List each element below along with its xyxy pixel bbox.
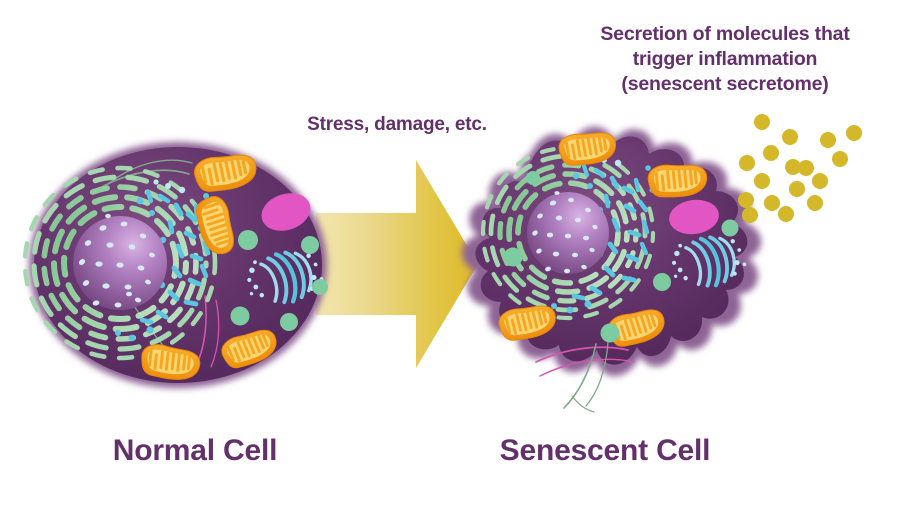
secretome-dot (807, 195, 823, 211)
secretome-dot (789, 181, 805, 197)
secretome-dot (763, 145, 779, 161)
secretion-caption: Secretion of molecules that trigger infl… (565, 22, 885, 97)
secretome-dot (798, 160, 814, 176)
secretome-dot (782, 129, 798, 145)
senescent-cell-title: Senescent Cell (440, 432, 770, 470)
secretome-dot (742, 207, 758, 223)
stress-caption: Stress, damage, etc. (272, 113, 522, 137)
secretome-dot (820, 132, 836, 148)
senescent-cell (462, 127, 761, 412)
secretome-dot (739, 155, 755, 171)
secretome-dot (778, 206, 794, 222)
transition-arrow (316, 160, 478, 368)
secretome-dot (738, 192, 754, 208)
secretome-dot (846, 125, 862, 141)
secretome-dot-cloud (738, 114, 862, 223)
normal-cell (25, 142, 328, 388)
secretome-dot (832, 151, 848, 167)
secretome-dot (754, 114, 770, 130)
secretome-dot (812, 173, 828, 189)
cell-senescence-diagram: Secretion of molecules that trigger infl… (0, 0, 901, 507)
secretome-dot (764, 195, 780, 211)
secretome-dot (754, 173, 770, 189)
normal-cell-title: Normal Cell (30, 432, 360, 470)
